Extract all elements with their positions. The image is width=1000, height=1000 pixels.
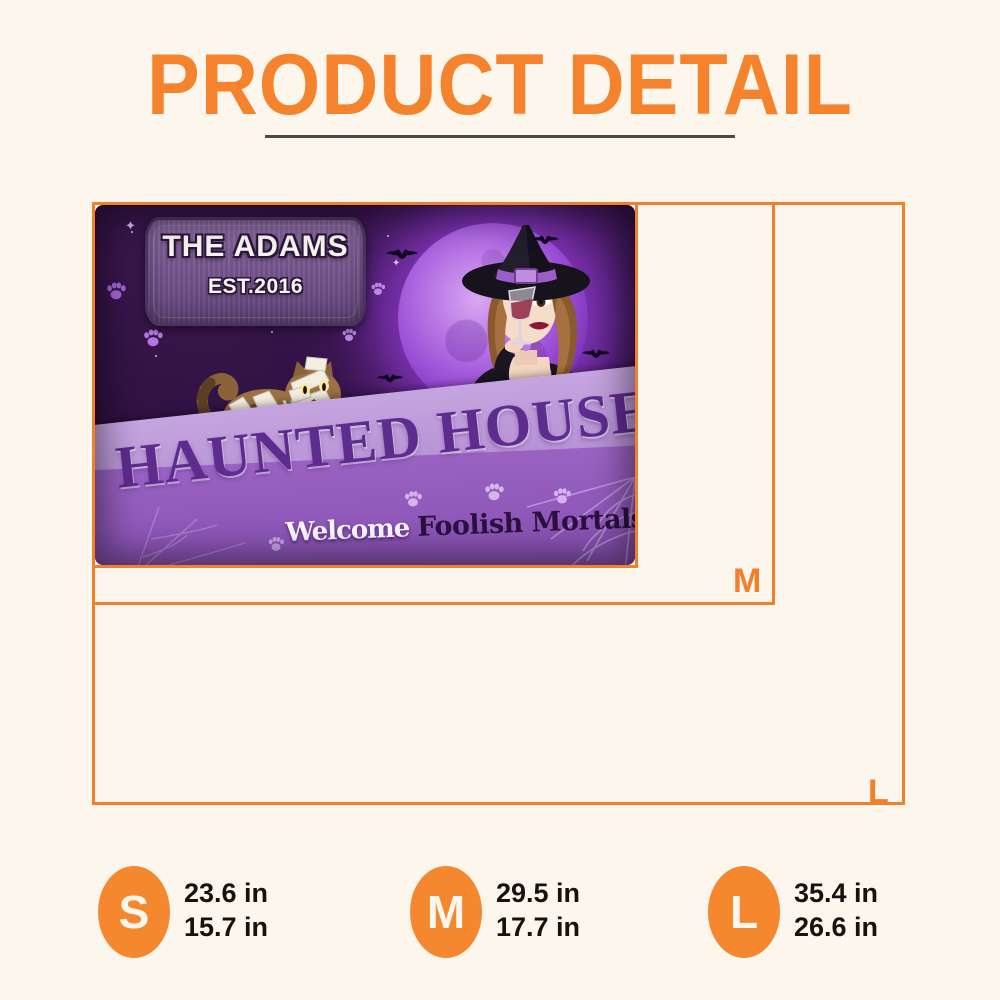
product-image-doormat[interactable]: ✦ ✦ ✦ THE <box>95 205 635 565</box>
legend-dimensions-medium: 29.5 in 17.7 in <box>496 876 580 944</box>
legend-height-medium: 17.7 in <box>496 910 580 944</box>
bat-icon <box>385 247 419 263</box>
legend-badge-large: L <box>708 866 780 958</box>
welcome-word-text: Welcome <box>285 513 410 548</box>
paw-print-icon <box>267 535 285 553</box>
size-box-label-large: L <box>868 775 889 809</box>
legend-dimensions-small: 23.6 in 15.7 in <box>184 876 268 944</box>
legend-width-large: 35.4 in <box>794 876 878 910</box>
star-icon <box>271 331 273 333</box>
bat-icon <box>376 372 404 386</box>
name-plaque: THE ADAMS EST.2016 <box>145 217 366 326</box>
star-icon <box>155 355 157 357</box>
paw-print-icon <box>403 489 423 509</box>
page-title: PRODUCT DETAIL <box>40 42 960 128</box>
paw-print-icon <box>370 281 386 297</box>
legend-width-small: 23.6 in <box>184 876 268 910</box>
paw-print-icon <box>552 486 572 506</box>
family-name-text: THE ADAMS <box>148 232 363 262</box>
paw-print-icon <box>142 327 164 349</box>
spider-web-icon <box>135 505 255 565</box>
paw-print-icon <box>483 481 505 503</box>
legend-width-medium: 29.5 in <box>496 876 580 910</box>
established-year-text: EST.2016 <box>148 276 363 297</box>
legend-badge-medium: M <box>410 866 482 958</box>
paw-print-icon <box>341 327 357 343</box>
legend-dimensions-large: 35.4 in 26.6 in <box>794 876 878 944</box>
title-underline-rule <box>265 135 735 138</box>
size-box-label-medium: M <box>733 564 761 598</box>
size-legend: S 23.6 in 15.7 in M 29.5 in 17.7 in L 35… <box>0 862 1000 962</box>
paw-print-icon <box>105 280 127 302</box>
legend-height-small: 15.7 in <box>184 910 268 944</box>
star-icon <box>387 235 389 237</box>
legend-badge-small: S <box>98 866 170 958</box>
legend-height-large: 26.6 in <box>794 910 878 944</box>
sparkle-icon: ✦ <box>125 219 136 232</box>
